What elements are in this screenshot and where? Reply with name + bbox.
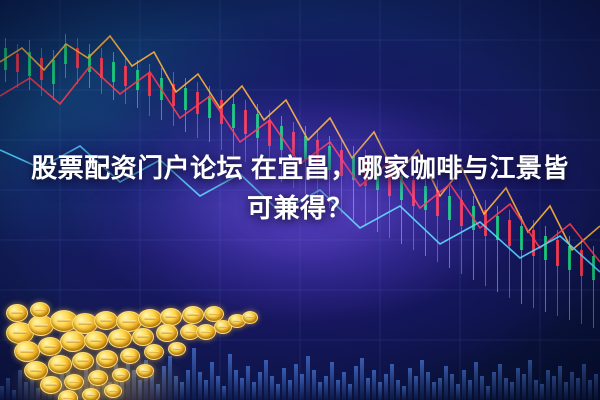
gold-coins-pile [0,296,260,400]
gold-coin [196,324,216,340]
gold-coin [14,341,40,362]
gold-coin [48,355,72,374]
gold-coin [64,374,84,390]
gold-coin [112,368,130,382]
gold-coin [156,324,178,342]
gold-coin [88,370,108,386]
gold-coin [96,350,118,368]
gold-coin [30,302,50,318]
gold-coin [82,388,100,400]
gold-coin [72,352,94,370]
gold-coin [38,337,62,356]
gold-coin [120,348,140,364]
gold-coin [144,344,164,360]
gold-coin [168,342,186,356]
gold-coin [60,331,86,352]
gold-coin [108,329,132,348]
gold-coin [58,390,78,400]
gold-coin [182,306,204,324]
stock-market-banner-image: 股票配资门户论坛 在宜昌，哪家咖啡与江景皆可兼得？ [0,0,600,400]
gold-coin [84,331,108,350]
gold-coin [136,364,154,378]
gold-coin [6,304,28,322]
headline-text: 股票配资门户论坛 在宜昌，哪家咖啡与江景皆可兼得？ [0,148,600,228]
gold-coin [138,309,162,328]
gold-coin [104,384,122,398]
gold-coin [94,311,118,330]
gold-coin [40,376,62,394]
gold-coin [242,311,258,324]
